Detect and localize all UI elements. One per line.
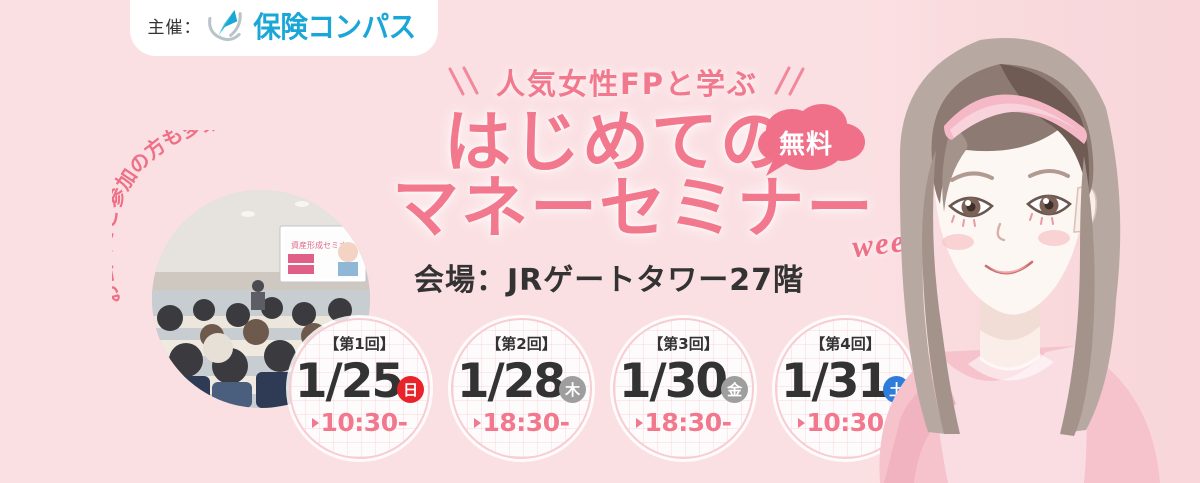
session-number: 【第2回】: [486, 333, 556, 354]
sponsor-box: 主催： 保険コンパス: [130, 0, 438, 56]
woman-illustration: [840, 0, 1200, 483]
session-dow-badge: 金: [721, 376, 748, 403]
session-dow-badge: 木: [559, 376, 586, 403]
session-time: 10:30-: [312, 408, 408, 437]
session-circle-2[interactable]: 【第2回】 1/28 木 18:30-: [451, 318, 592, 459]
sponsor-logo-text: 保険コンパス: [254, 4, 416, 46]
session-time: 18:30-: [474, 408, 570, 437]
session-date: 1/25: [295, 358, 402, 405]
slash-right-icon: [772, 65, 808, 99]
seminar-banner: 主催： 保険コンパス お1人でご参加の方も多数！: [0, 0, 1200, 483]
session-time-label: 18:30-: [483, 408, 570, 437]
session-time-label: 10:30-: [321, 408, 408, 437]
play-triangle-icon: [798, 418, 805, 428]
session-number: 【第1回】: [324, 333, 394, 354]
slash-left-icon: [446, 65, 482, 99]
session-date-list: 【第1回】 1/25 日 10:30- 【第2回】 1/28 木 18:30- …: [289, 318, 916, 459]
session-circle-3[interactable]: 【第3回】 1/30 金 18:30-: [613, 318, 754, 459]
session-time-label: 18:30-: [645, 408, 732, 437]
venue-label: 会場：JRゲートタワー27階: [392, 255, 862, 299]
compass-arrow-logo-icon: [206, 8, 244, 42]
play-triangle-icon: [312, 418, 319, 428]
play-triangle-icon: [636, 418, 643, 428]
session-circle-1[interactable]: 【第1回】 1/25 日 10:30-: [289, 318, 430, 459]
session-date: 1/30: [619, 358, 726, 405]
session-date: 1/28: [457, 358, 564, 405]
headline-kicker: 人気女性FPと学ぶ: [496, 61, 758, 103]
session-number: 【第3回】: [648, 333, 718, 354]
session-time: 18:30-: [636, 408, 732, 437]
sponsor-label: 主催：: [147, 13, 201, 38]
session-dow-badge: 日: [397, 376, 424, 403]
play-triangle-icon: [474, 418, 481, 428]
